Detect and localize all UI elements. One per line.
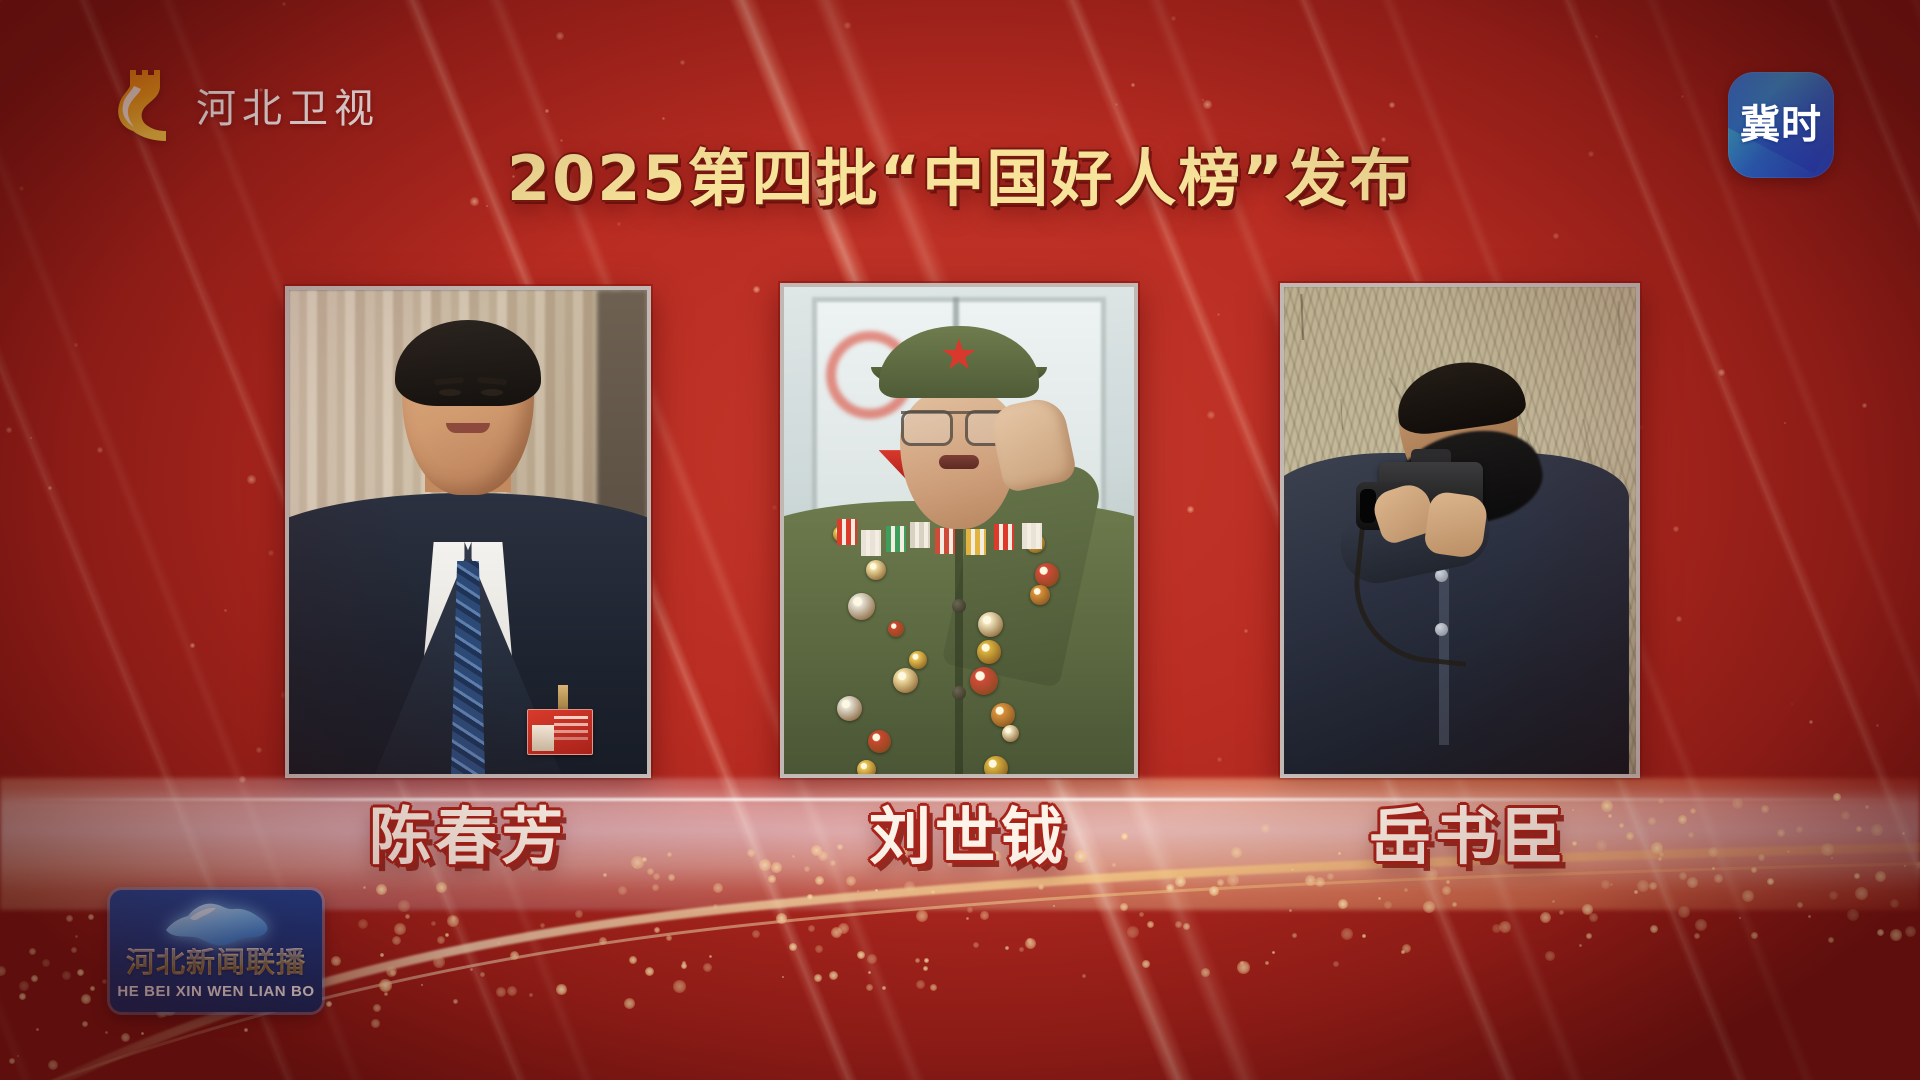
broadcast-frame: 河北卫视 冀时 2025第四批“中国好人榜”发布 xyxy=(0,0,1920,1080)
honoree-name-1: 陈春芳 xyxy=(253,806,683,868)
great-wall-tower-icon xyxy=(110,64,182,146)
program-bug-title: 河北新闻联播 xyxy=(110,948,322,977)
program-bug-subtitle: HE BEI XIN WEN LIAN BO xyxy=(110,983,322,1000)
honoree-photo-3 xyxy=(1280,283,1640,778)
hebei-province-map-icon xyxy=(156,896,276,952)
channel-logo: 河北卫视 xyxy=(110,62,390,148)
channel-name: 河北卫视 xyxy=(196,76,380,134)
page-title: 2025第四批“中国好人榜”发布 xyxy=(0,146,1920,213)
app-logo-text: 冀时 xyxy=(1740,105,1822,145)
honoree-photo-2 xyxy=(780,283,1138,778)
honoree-name-3: 岳书臣 xyxy=(1253,806,1683,868)
program-bug: 河北新闻联播 HE BEI XIN WEN LIAN BO xyxy=(110,890,322,1012)
honoree-name-2: 刘世钺 xyxy=(753,806,1183,868)
honoree-photo-1 xyxy=(285,286,651,778)
